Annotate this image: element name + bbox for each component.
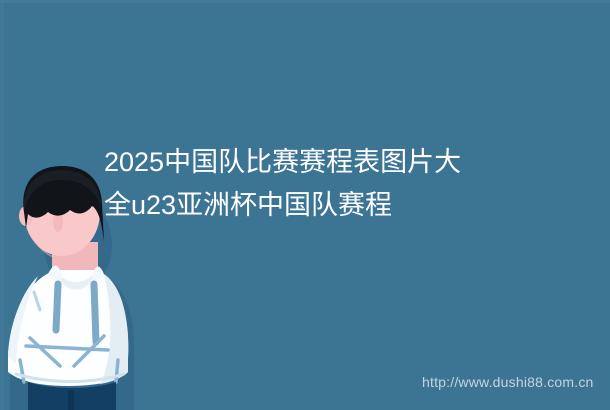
watermark-url: http://www.dushi88.com.cn — [422, 374, 594, 390]
top-edge-highlight — [0, 0, 610, 3]
title-line-2: 全u23亚洲杯中国队赛程 — [104, 184, 584, 227]
page-title: 2025中国队比赛赛程表图片大 全u23亚洲杯中国队赛程 — [104, 141, 584, 227]
hoodie — [8, 266, 128, 386]
title-line-1: 2025中国队比赛赛程表图片大 — [104, 141, 584, 184]
thumbnail-banner: 2025中国队比赛赛程表图片大 全u23亚洲杯中国队赛程 http://www.… — [0, 0, 610, 410]
